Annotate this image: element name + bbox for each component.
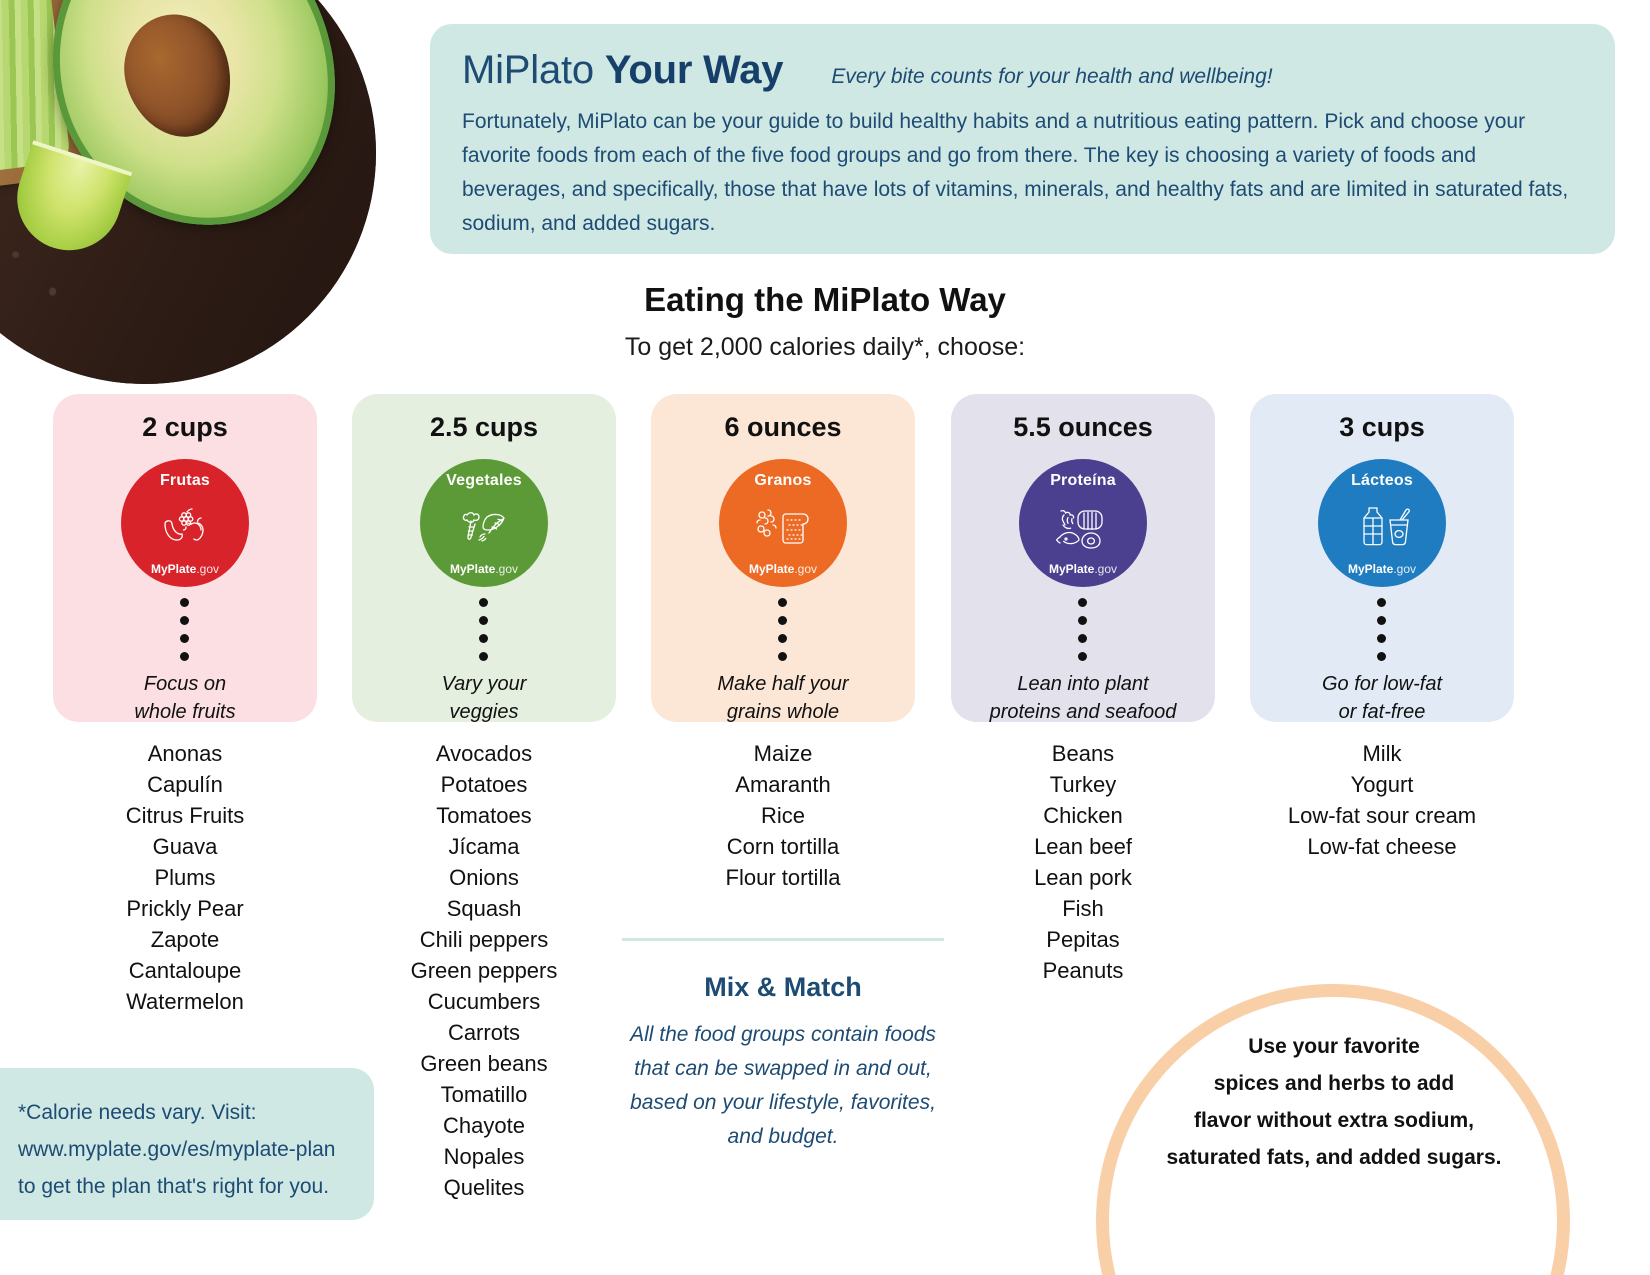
dotted-connector [1078, 598, 1088, 661]
badge-url-label: MyPlate.gov [749, 562, 817, 587]
myplate-badge-icon: LácteosMyPlate.gov [1318, 459, 1446, 587]
badge-url-label: MyPlate.gov [1049, 562, 1117, 587]
badge-url-bold: MyPlate [450, 562, 495, 576]
page-title-bold: Your Way [605, 48, 783, 92]
food-list-item: Avocados [352, 738, 616, 769]
food-group-card-vegetales: 2.5 cupsVegetalesMyPlate.govVary yourveg… [352, 394, 616, 722]
food-list-item: Guava [53, 831, 317, 862]
food-list-frutas: AnonasCapulínCitrus FruitsGuavaPlumsPric… [53, 738, 317, 1017]
dotted-connector [479, 598, 489, 661]
page-title-light: MiPlato [462, 48, 605, 92]
badge-url-bold: MyPlate [749, 562, 794, 576]
avocado-toast-photo [0, 0, 376, 384]
food-list-item: Milk [1250, 738, 1514, 769]
badge-food-glyphs-icon [1053, 490, 1113, 562]
badge-url-label: MyPlate.gov [151, 562, 219, 587]
food-list-item: Chicken [951, 800, 1215, 831]
calorie-note: *Calorie needs vary. Visit:www.myplate.g… [0, 1068, 374, 1220]
mix-match-divider [622, 938, 944, 941]
badge-food-glyphs-icon [752, 490, 814, 562]
card-tip: Focus onwhole fruits [53, 670, 317, 726]
food-list-item: Zapote [53, 924, 317, 955]
intro-body: Fortunately, MiPlato can be your guide t… [462, 105, 1585, 241]
page-title: MiPlato Your Way [462, 48, 783, 93]
badge-food-glyphs-icon [453, 490, 515, 562]
food-list-item: Pepitas [951, 924, 1215, 955]
mix-match-body: All the food groups contain foods that c… [612, 1018, 954, 1154]
badge-group-name: Granos [754, 472, 811, 490]
badge-group-name: Proteína [1050, 472, 1116, 490]
food-list-item: Carrots [352, 1017, 616, 1048]
dotted-connector [778, 598, 788, 661]
card-amount: 6 ounces [651, 412, 915, 443]
food-list-item: Chili peppers [352, 924, 616, 955]
myplate-badge-icon: VegetalesMyPlate.gov [420, 459, 548, 587]
food-list-item: Cucumbers [352, 986, 616, 1017]
myplate-badge-icon: ProteínaMyPlate.gov [1019, 459, 1147, 587]
food-list-item: Maize [651, 738, 915, 769]
food-list-item: Peanuts [951, 955, 1215, 986]
intro-panel: MiPlato Your Way Every bite counts for y… [430, 24, 1615, 254]
food-list-item: Lean beef [951, 831, 1215, 862]
dotted-connector [180, 598, 190, 661]
card-tip: Lean into plantproteins and seafood [951, 670, 1215, 726]
badge-url-bold: MyPlate [1348, 562, 1393, 576]
food-list-item: Watermelon [53, 986, 317, 1017]
food-group-card-granos: 6 ouncesGranosMyPlate.govMake half yourg… [651, 394, 915, 722]
food-list-granos: MaizeAmaranthRiceCorn tortillaFlour tort… [651, 738, 915, 893]
spices-note: Use your favoritespices and herbs to add… [1104, 1028, 1564, 1176]
badge-group-name: Vegetales [446, 472, 522, 490]
card-tip: Vary yourveggies [352, 670, 616, 726]
food-list-item: Prickly Pear [53, 893, 317, 924]
badge-group-name: Frutas [160, 472, 210, 490]
card-amount: 3 cups [1250, 412, 1514, 443]
badge-url-rest: .gov [1393, 562, 1416, 576]
card-tip: Make half yourgrains whole [651, 670, 915, 726]
badge-url-rest: .gov [196, 562, 219, 576]
badge-url-rest: .gov [495, 562, 518, 576]
food-group-card-lácteos: 3 cupsLácteosMyPlate.govGo for low-fator… [1250, 394, 1514, 722]
dotted-connector [1377, 598, 1387, 661]
card-amount: 2.5 cups [352, 412, 616, 443]
badge-url-label: MyPlate.gov [1348, 562, 1416, 587]
food-group-card-frutas: 2 cupsFrutasMyPlate.govFocus onwhole fru… [53, 394, 317, 722]
food-list-item: Anonas [53, 738, 317, 769]
food-list-item: Green beans [352, 1048, 616, 1079]
food-list-item: Jícama [352, 831, 616, 862]
myplate-badge-icon: GranosMyPlate.gov [719, 459, 847, 587]
food-list-item: Flour tortilla [651, 862, 915, 893]
food-list-item: Fish [951, 893, 1215, 924]
myplate-badge-icon: FrutasMyPlate.gov [121, 459, 249, 587]
food-list-item: Low-fat sour cream [1250, 800, 1514, 831]
infographic-page: MiPlato Your Way Every bite counts for y… [0, 0, 1650, 1275]
intro-header: MiPlato Your Way Every bite counts for y… [462, 48, 1585, 93]
food-list-item: Corn tortilla [651, 831, 915, 862]
food-list-item: Onions [352, 862, 616, 893]
food-list-item: Chayote [352, 1110, 616, 1141]
tagline: Every bite counts for your health and we… [831, 65, 1272, 89]
badge-url-rest: .gov [794, 562, 817, 576]
food-list-item: Potatoes [352, 769, 616, 800]
food-list-item: Green peppers [352, 955, 616, 986]
badge-url-label: MyPlate.gov [450, 562, 518, 587]
food-list-item: Turkey [951, 769, 1215, 800]
food-list-item: Capulín [53, 769, 317, 800]
food-list-item: Quelites [352, 1172, 616, 1203]
badge-url-rest: .gov [1094, 562, 1117, 576]
badge-food-glyphs-icon [1352, 490, 1412, 562]
card-amount: 2 cups [53, 412, 317, 443]
food-list-item: Squash [352, 893, 616, 924]
food-group-card-proteína: 5.5 ouncesProteínaMyPlate.govLean into p… [951, 394, 1215, 722]
badge-url-bold: MyPlate [151, 562, 196, 576]
food-list-item: Beans [951, 738, 1215, 769]
food-list-item: Tomatoes [352, 800, 616, 831]
food-list-item: Lean pork [951, 862, 1215, 893]
section-subtitle: To get 2,000 calories daily*, choose: [0, 333, 1650, 362]
food-list-proteína: BeansTurkeyChickenLean beefLean porkFish… [951, 738, 1215, 986]
food-list-item: Yogurt [1250, 769, 1514, 800]
section-title: Eating the MiPlato Way [0, 281, 1650, 319]
badge-url-bold: MyPlate [1049, 562, 1094, 576]
food-list-vegetales: AvocadosPotatoesTomatoesJícamaOnionsSqua… [352, 738, 616, 1203]
food-list-item: Plums [53, 862, 317, 893]
card-tip: Go for low-fator fat-free [1250, 670, 1514, 726]
food-list-item: Low-fat cheese [1250, 831, 1514, 862]
food-list-item: Amaranth [651, 769, 915, 800]
food-list-item: Cantaloupe [53, 955, 317, 986]
food-list-item: Tomatillo [352, 1079, 616, 1110]
mix-match-title: Mix & Match [622, 972, 944, 1003]
food-list-item: Rice [651, 800, 915, 831]
food-list-item: Nopales [352, 1141, 616, 1172]
badge-food-glyphs-icon [157, 490, 213, 562]
card-amount: 5.5 ounces [951, 412, 1215, 443]
food-list-lácteos: MilkYogurtLow-fat sour creamLow-fat chee… [1250, 738, 1514, 862]
badge-group-name: Lácteos [1351, 472, 1413, 490]
food-list-item: Citrus Fruits [53, 800, 317, 831]
